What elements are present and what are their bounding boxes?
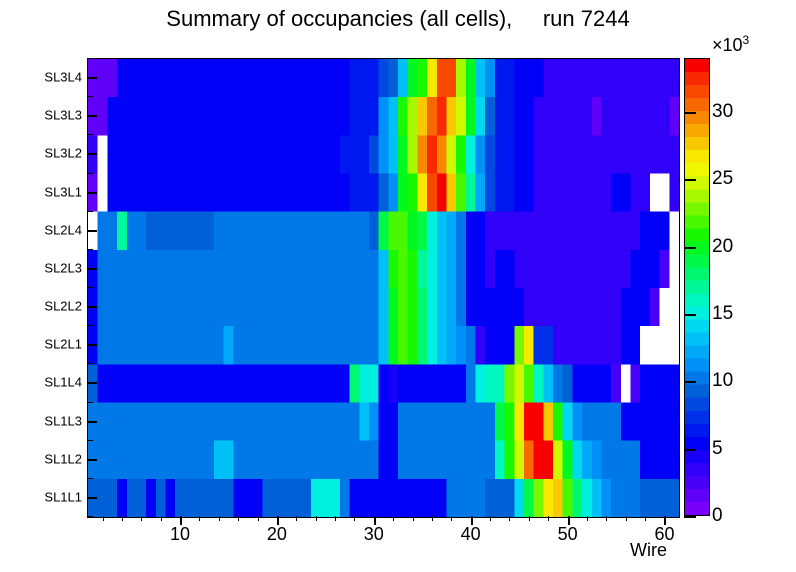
x-axis-minor-tick — [141, 516, 142, 521]
colorbar-tick — [684, 449, 696, 451]
plot-frame — [87, 58, 680, 518]
colorbar-tick — [684, 247, 696, 249]
root-canvas: Summary of occupancies (all cells), run … — [0, 0, 796, 572]
y-axis-minor-tick — [88, 402, 93, 403]
x-axis-minor-tick — [626, 516, 627, 521]
y-axis-minor-tick — [88, 287, 93, 288]
x-axis-minor-tick — [529, 516, 530, 521]
y-axis-tick — [88, 268, 97, 270]
x-axis-minor-tick — [199, 516, 200, 521]
y-axis-label-sl1l4: SL1L4 — [18, 375, 82, 390]
y-axis-tick — [88, 459, 97, 461]
y-axis-label-sl1l2: SL1L2 — [18, 451, 82, 466]
x-axis-minor-tick — [161, 516, 162, 521]
x-axis-minor-tick — [548, 516, 549, 521]
colorbar-label-20: 20 — [712, 236, 733, 258]
x-axis-label-20: 20 — [267, 524, 287, 545]
colorbar-label-15: 15 — [712, 303, 733, 325]
colorbar-exponent-base: ×10 — [712, 35, 743, 55]
y-axis-label-sl3l3: SL3L3 — [18, 108, 82, 123]
x-axis-label-10: 10 — [170, 524, 190, 545]
x-axis-minor-tick — [354, 516, 355, 521]
y-axis-minor-tick — [88, 440, 93, 441]
y-axis-tick — [88, 115, 97, 117]
x-axis-minor-tick — [393, 516, 394, 521]
colorbar-label-5: 5 — [712, 438, 723, 460]
x-axis-minor-tick — [490, 516, 491, 521]
y-axis-minor-tick — [88, 325, 93, 326]
y-axis-label-sl3l4: SL3L4 — [18, 70, 82, 85]
x-axis-minor-tick — [258, 516, 259, 521]
y-axis-label-sl3l1: SL3L1 — [18, 184, 82, 199]
y-axis-minor-tick — [88, 249, 93, 250]
x-axis-label-50: 50 — [558, 524, 578, 545]
y-axis-tick — [88, 77, 97, 79]
colorbar-exponent-power: 3 — [743, 33, 750, 47]
y-axis-label-sl2l3: SL2L3 — [18, 260, 82, 275]
x-axis-minor-tick — [219, 516, 220, 521]
y-axis-minor-tick — [88, 58, 93, 59]
colorbar-labels: 051015202530 — [712, 58, 782, 520]
y-axis-label-sl1l1: SL1L1 — [18, 489, 82, 504]
x-axis-minor-tick — [316, 516, 317, 521]
x-axis-minor-tick — [413, 516, 414, 521]
y-axis-minor-tick — [88, 173, 93, 174]
y-axis-ticks — [88, 58, 100, 516]
chart-title: Summary of occupancies (all cells), run … — [0, 6, 796, 32]
y-axis-tick — [88, 306, 97, 308]
x-axis-minor-tick — [606, 516, 607, 521]
colorbar-tick — [684, 516, 696, 518]
y-axis-tick — [88, 382, 97, 384]
colorbar-exponent: ×103 — [712, 33, 749, 56]
x-axis-minor-tick — [238, 516, 239, 521]
x-axis-minor-tick — [587, 516, 588, 521]
x-axis-label-30: 30 — [364, 524, 384, 545]
x-axis-minor-tick — [296, 516, 297, 521]
heatmap-grid — [88, 59, 679, 517]
x-axis-minor-tick — [103, 516, 104, 521]
colorbar-tick — [684, 179, 696, 181]
y-axis-label-sl3l2: SL3L2 — [18, 146, 82, 161]
y-axis-tick — [88, 497, 97, 499]
y-axis-label-sl1l3: SL1L3 — [18, 413, 82, 428]
y-axis-minor-tick — [88, 134, 93, 135]
colorbar-tick — [684, 314, 696, 316]
x-axis-title: Wire — [630, 540, 667, 561]
colorbar-label-10: 10 — [712, 370, 733, 392]
y-axis-label-sl2l2: SL2L2 — [18, 299, 82, 314]
colorbar-tick — [684, 381, 696, 383]
x-axis-labels: 102030405060 — [0, 524, 796, 546]
colorbar-label-25: 25 — [712, 168, 733, 190]
y-axis-minor-tick — [88, 96, 93, 97]
y-axis-tick — [88, 230, 97, 232]
heatmap-canvas — [88, 59, 679, 517]
y-axis-minor-tick — [88, 478, 93, 479]
y-axis-label-sl2l1: SL2L1 — [18, 337, 82, 352]
x-axis-minor-tick — [335, 516, 336, 521]
x-axis-label-40: 40 — [461, 524, 481, 545]
y-axis-tick — [88, 421, 97, 423]
x-axis-minor-tick — [451, 516, 452, 521]
y-axis-tick — [88, 153, 97, 155]
y-axis-minor-tick — [88, 363, 93, 364]
colorbar-label-30: 30 — [712, 101, 733, 123]
y-axis-labels: SL3L4SL3L3SL3L2SL3L1SL2L4SL2L3SL2L2SL2L1… — [12, 58, 82, 516]
x-axis-minor-tick — [432, 516, 433, 521]
y-axis-tick — [88, 344, 97, 346]
colorbar-tick — [684, 112, 696, 114]
x-axis-minor-tick — [122, 516, 123, 521]
y-axis-label-sl2l4: SL2L4 — [18, 222, 82, 237]
colorbar-label-0: 0 — [712, 505, 723, 527]
y-axis-tick — [88, 192, 97, 194]
y-axis-minor-tick — [88, 211, 93, 212]
x-axis-minor-tick — [645, 516, 646, 521]
x-axis-minor-tick — [509, 516, 510, 521]
